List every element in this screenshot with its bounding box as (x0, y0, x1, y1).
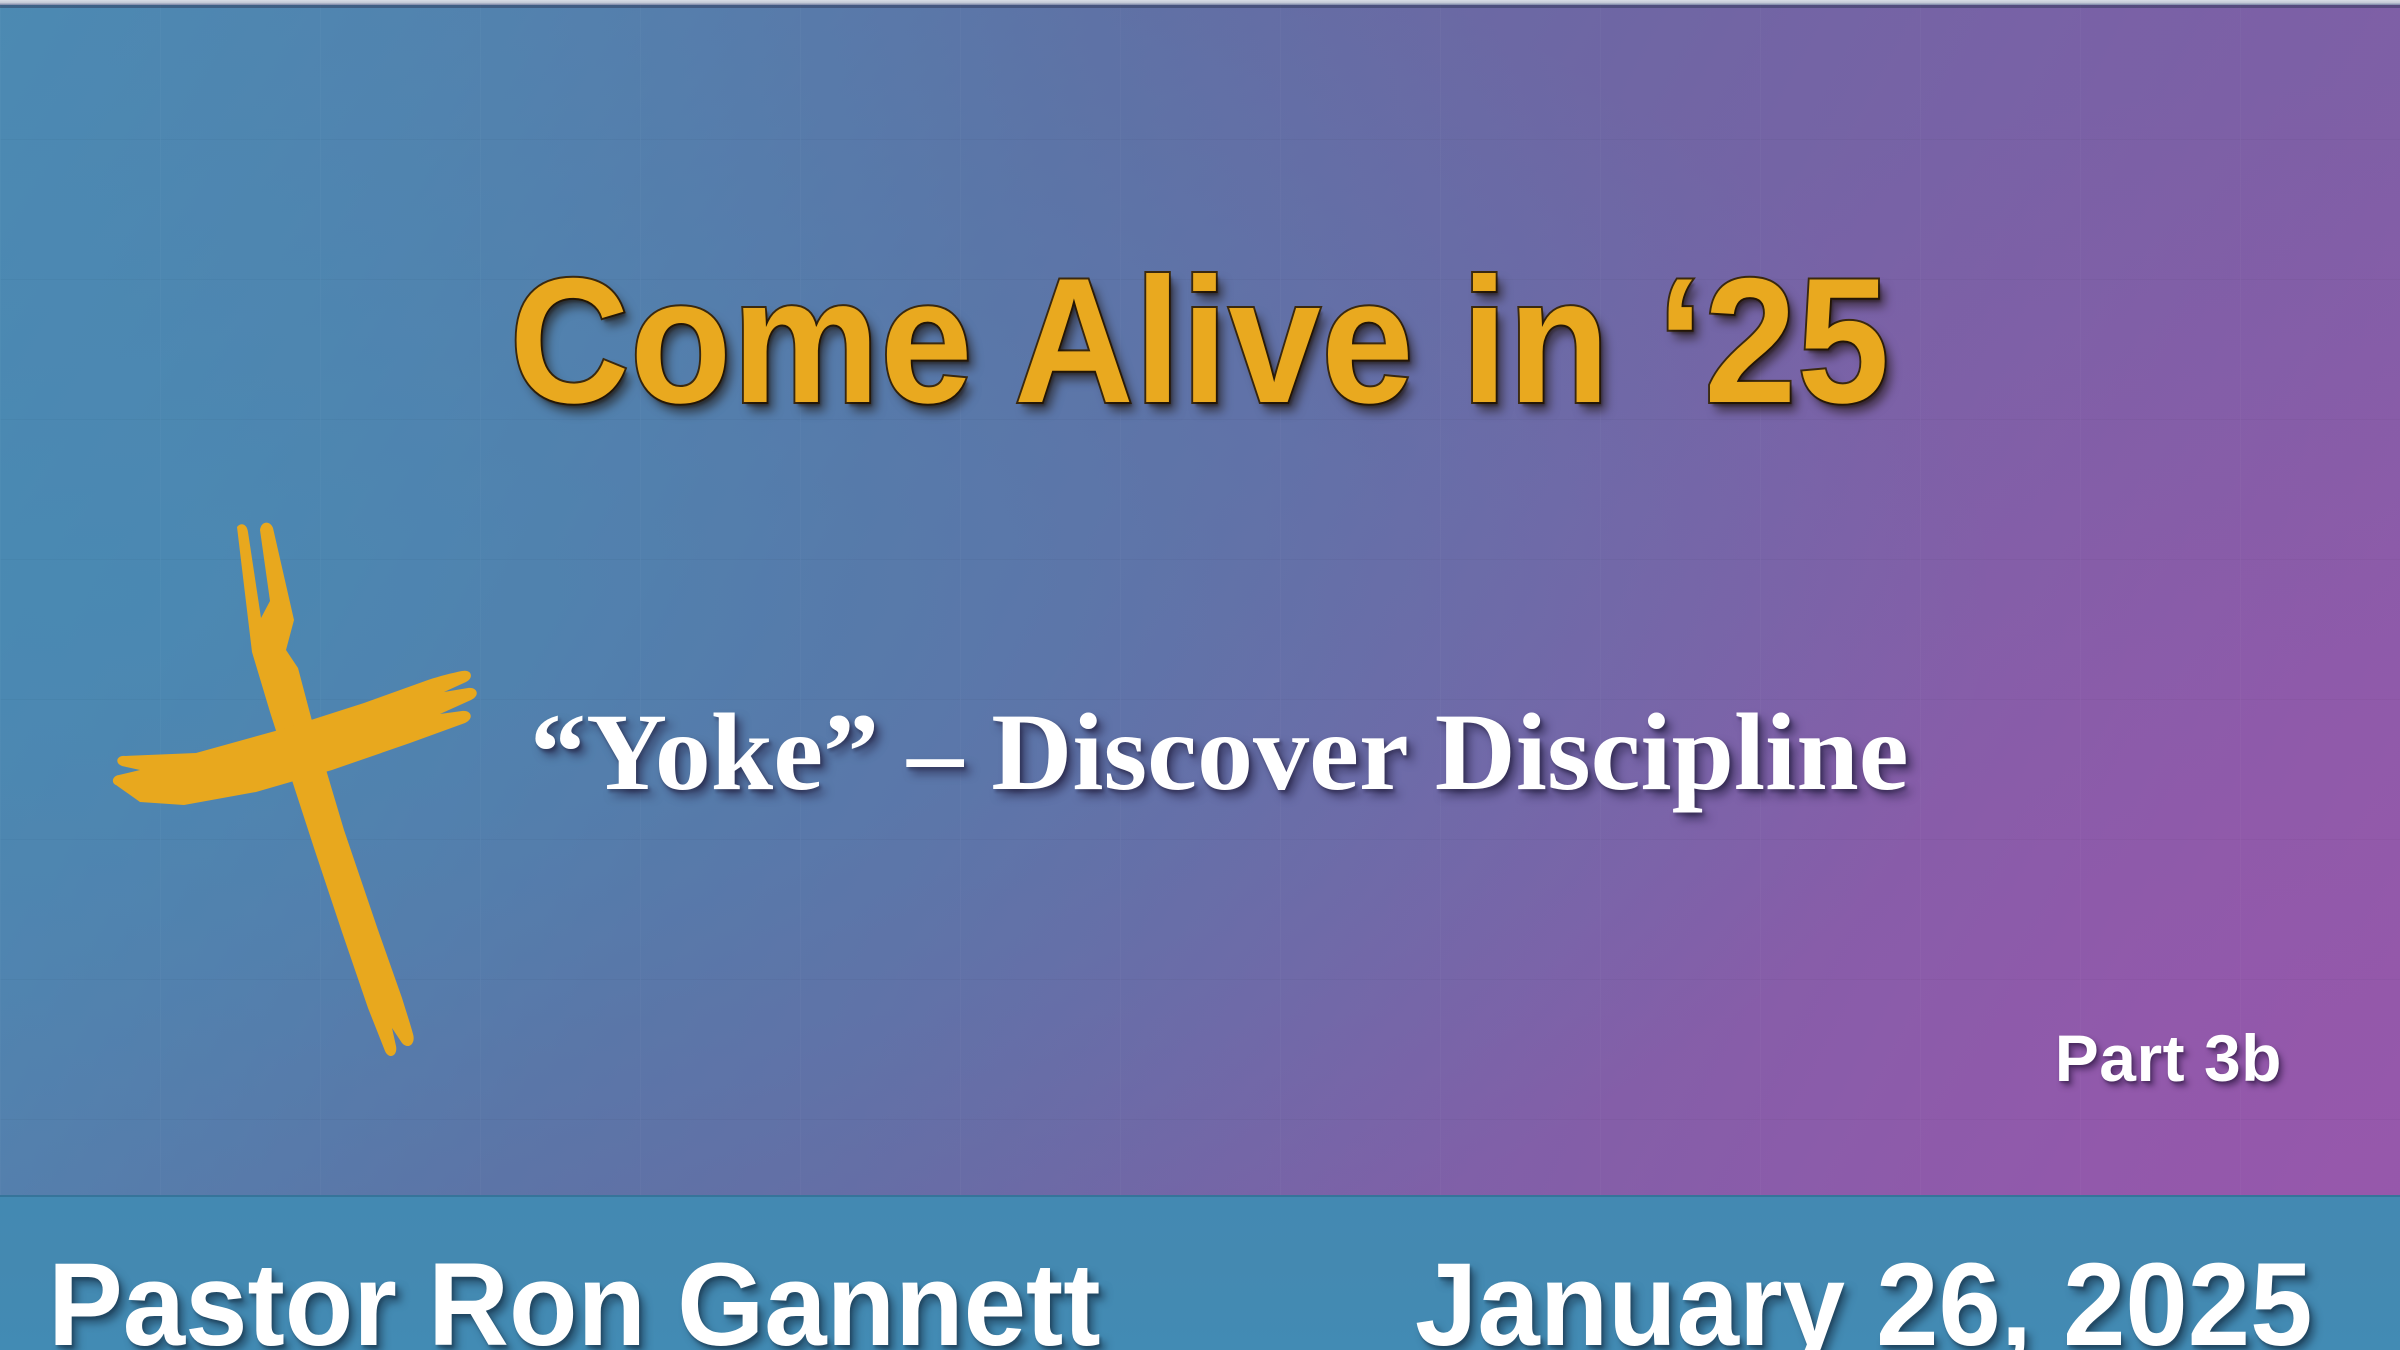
slide-title: Come Alive in ‘25 (84, 252, 2316, 430)
title-slide: Come Alive in ‘25 “Yoke” – Discover Disc… (0, 0, 2400, 1350)
footer-bar-top-edge (0, 1195, 2400, 1197)
part-label: Part 3b (2055, 1020, 2282, 1096)
footer-bar: Pastor Ron Gannett January 26, 2025 (0, 1195, 2400, 1350)
brush-stroke-cross-icon (110, 500, 510, 1060)
top-edge-strip-line (0, 5, 2400, 8)
slide-date: January 26, 2025 (1415, 1246, 2312, 1350)
speaker-name: Pastor Ron Gannett (48, 1246, 1101, 1350)
slide-subtitle: “Yoke” – Discover Discipline (530, 697, 2356, 807)
